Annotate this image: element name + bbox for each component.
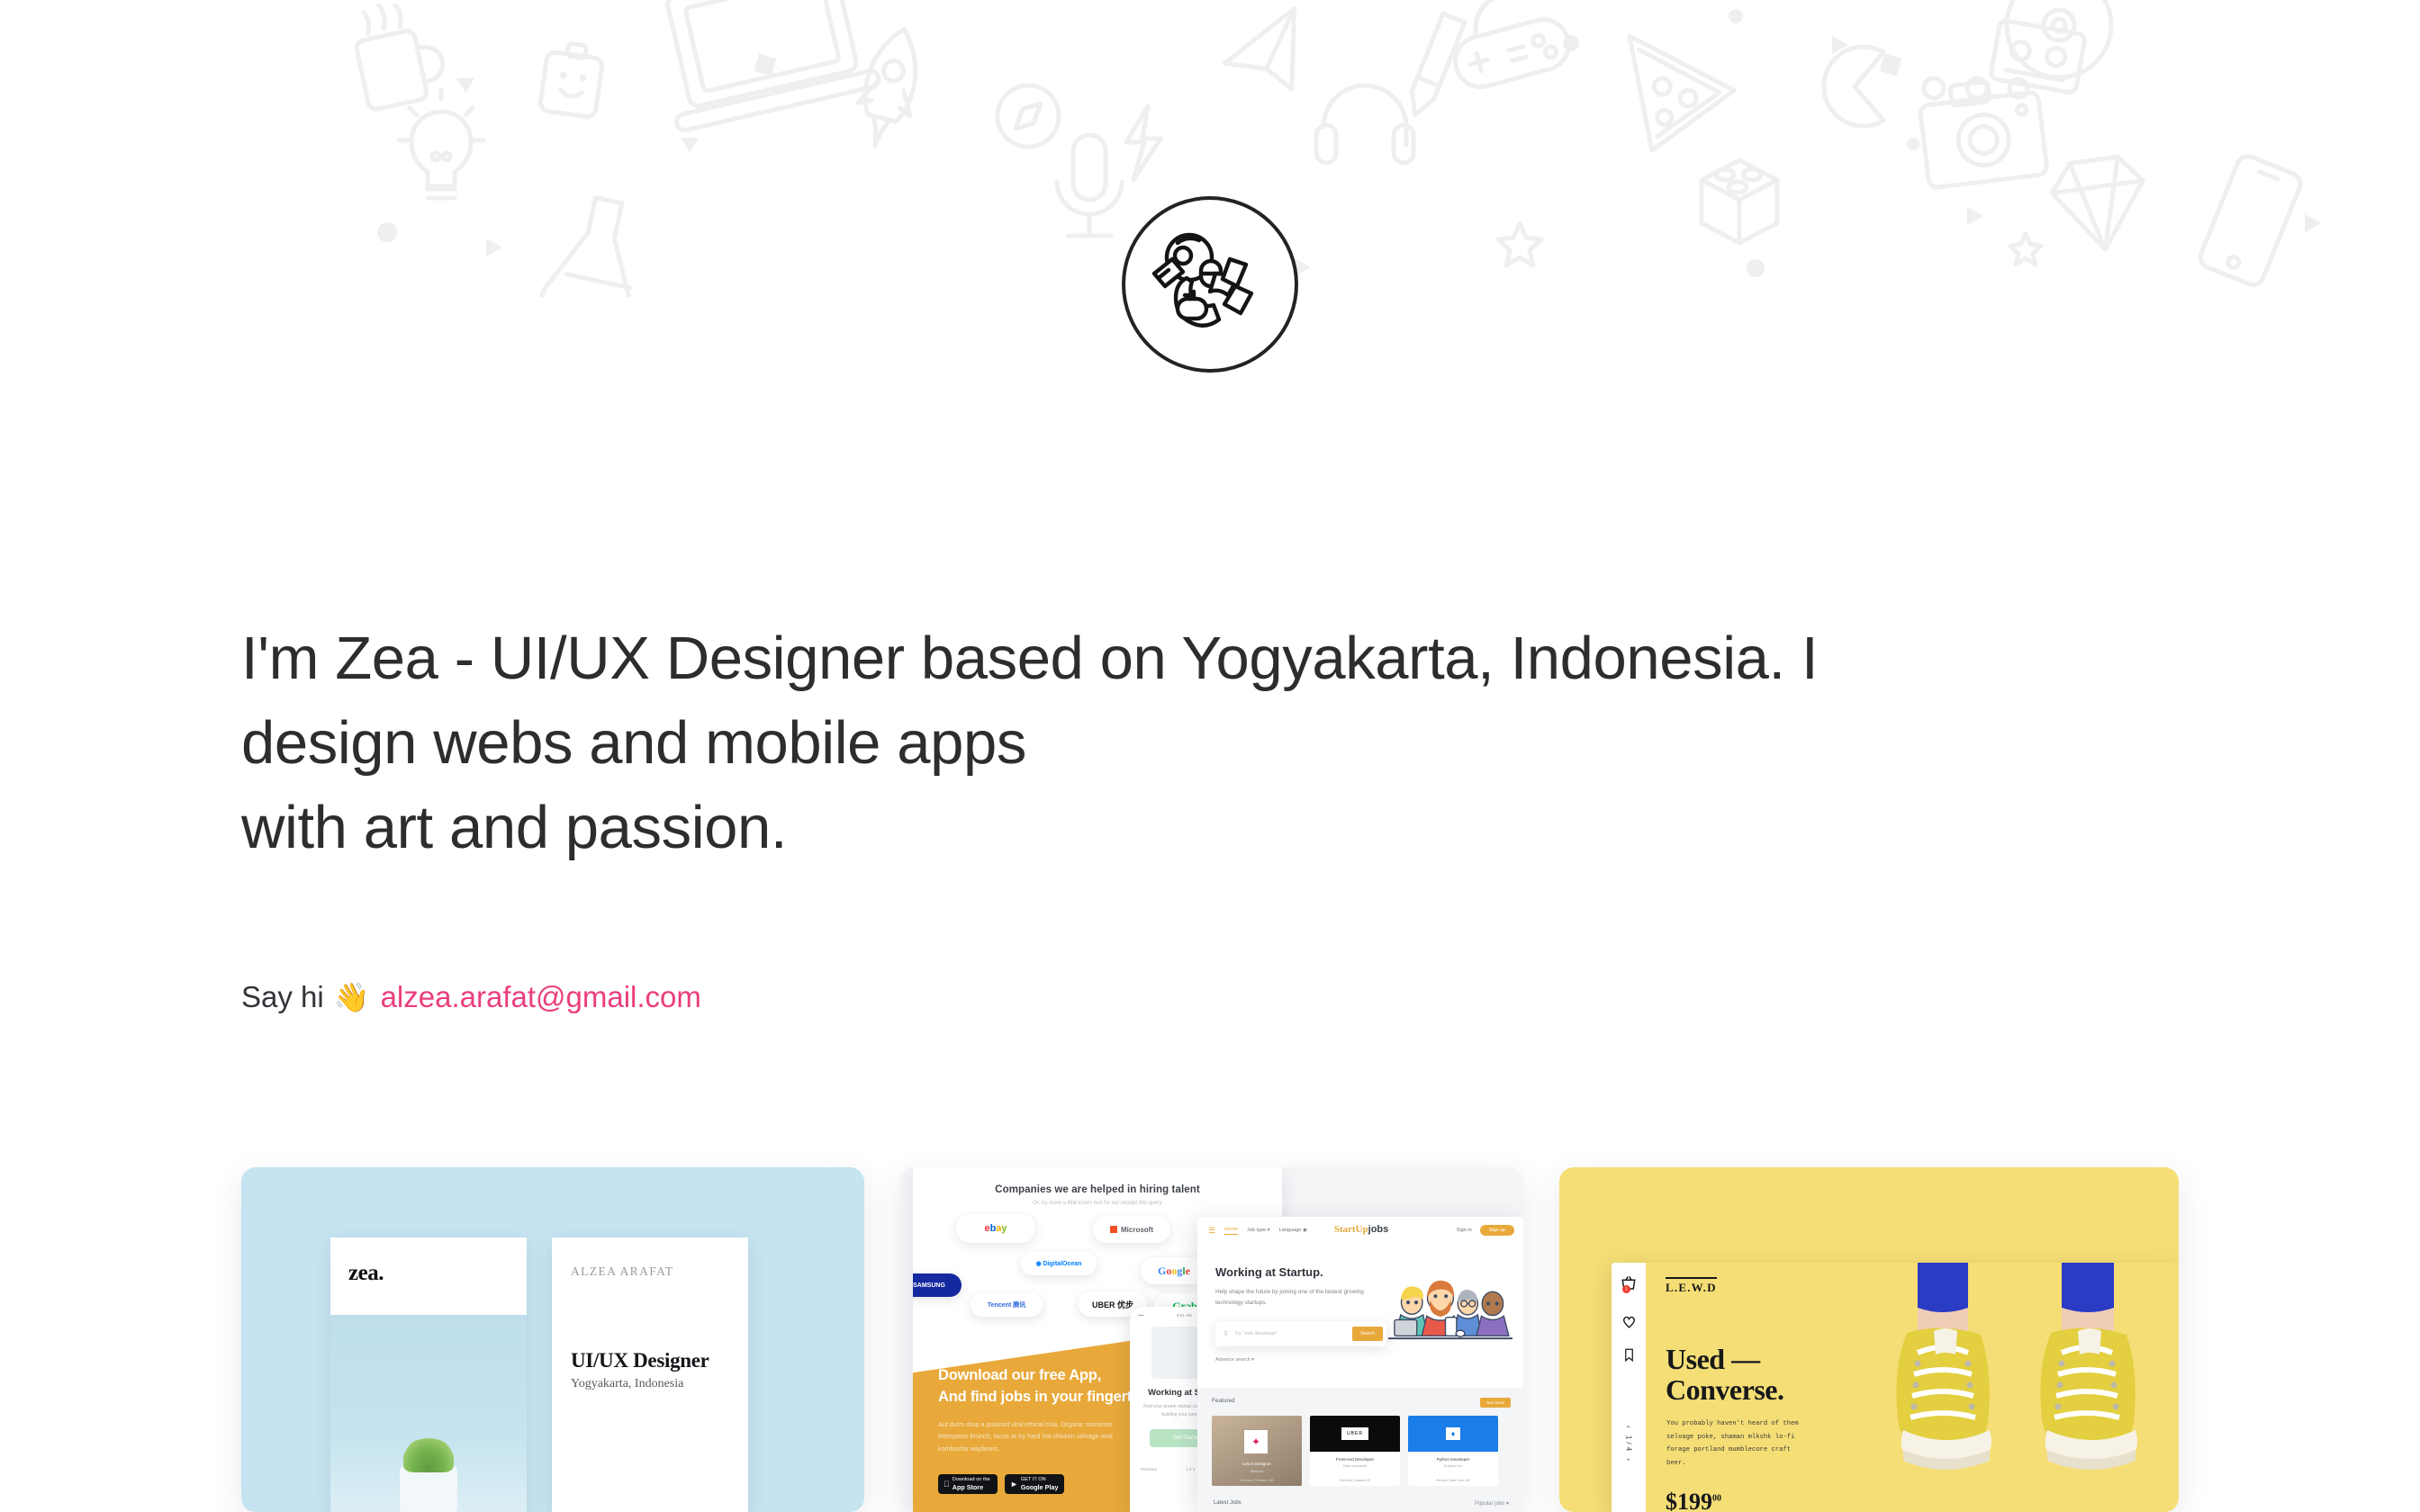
featured-label: Featured: [1212, 1398, 1235, 1408]
product-price-cents: 00: [1712, 1493, 1721, 1503]
pacman-icon: [1824, 47, 1883, 126]
business-card-back: ALZEA ARAFAT UI/UX Designer Yogyakarta, …: [552, 1237, 748, 1512]
pacman-dot-1: [1924, 78, 1944, 98]
apple-icon: : [944, 1480, 950, 1489]
pacman-dot-3: [2009, 79, 2027, 97]
job-tile-meta: Remote | New York, NY: [1408, 1479, 1498, 1482]
zea-wordmark: zea.: [330, 1237, 527, 1286]
dot-round: [1729, 9, 1743, 23]
popular-jobs-dropdown[interactable]: Popular jobs ▾: [1475, 1500, 1509, 1507]
company-logo-samsung: SAMSUNG: [913, 1273, 962, 1297]
slack-icon: ✦: [1244, 1430, 1268, 1453]
product-heading-line2: Converse.: [1666, 1373, 1783, 1406]
portfolio-card-zea-branding[interactable]: zea. ALZEA ARAFAT UI/UX Designer Yogyaka…: [241, 1167, 864, 1512]
rocket-icon: [849, 22, 931, 153]
job-tile-company: Slack Inc: [1212, 1470, 1302, 1473]
job-tile[interactable]: ✦ UI/UX Designer Slack Inc Full-time | P…: [1212, 1416, 1302, 1486]
business-card-location: Yogyakarta, Indonesia: [552, 1372, 748, 1391]
site-nav: ☰ Home Job type ▾ Language ◉ StartUpjobs…: [1197, 1217, 1523, 1244]
cd-icon: [2007, 0, 2111, 77]
search-button[interactable]: Search: [1352, 1327, 1383, 1341]
product-heading-line1: Used —: [1666, 1343, 1760, 1375]
app-store-label: App Store: [953, 1483, 990, 1491]
say-hi-label: Say hi: [241, 976, 324, 1018]
compass-icon: [998, 85, 1059, 147]
advance-search-toggle[interactable]: Advance search ▾: [1215, 1357, 1523, 1363]
triangle-dot: [1832, 36, 1848, 54]
nav-item-job-type[interactable]: Job type ▾: [1247, 1228, 1270, 1233]
business-card-logo-panel: zea.: [330, 1237, 527, 1315]
plant-pot: [400, 1465, 457, 1512]
portfolio-card-lewd-shop[interactable]: 1 ‹ 1/4 › L.E.W.D Used — Converse. You p…: [1559, 1167, 2179, 1512]
dot-round: [1563, 35, 1579, 51]
logo-circle: [1122, 196, 1298, 373]
latest-jobs-row: Latest Jobs Popular jobs ▾: [1197, 1500, 1523, 1507]
triangle-dot: [456, 78, 474, 93]
nav-item-language[interactable]: Language ◉: [1279, 1228, 1307, 1233]
hamburger-icon[interactable]: ☰: [1208, 1226, 1215, 1236]
triangle-dot: [681, 138, 699, 152]
site-logo[interactable]: [0, 196, 2420, 373]
job-tile-image: ✦ UI/UX Designer Slack Inc Full-time | P…: [1212, 1416, 1302, 1486]
dropbox-logo: ♦: [1408, 1416, 1498, 1452]
job-tile-company: Uber Indonesia: [1310, 1464, 1400, 1468]
page-title: I'm Zea - UI/UX Designer based on Yogyak…: [241, 616, 2042, 869]
see-more-button[interactable]: See More: [1480, 1398, 1511, 1408]
pizza-icon: [1618, 36, 1738, 158]
heart-icon[interactable]: [1621, 1314, 1637, 1329]
headline-line-2: design webs and mobile apps: [241, 701, 2042, 786]
coffee-mug-icon: [349, 0, 449, 111]
dot-square: [754, 54, 777, 76]
startupjobs-brand: StartUpjobs: [1334, 1224, 1389, 1235]
lewd-brand: L.E.W.D: [1666, 1277, 1717, 1295]
product-description: You probably haven't heard of them selva…: [1666, 1417, 1810, 1471]
dot-round: [1907, 138, 1919, 150]
latest-jobs-label: Latest Jobs: [1214, 1500, 1242, 1507]
featured-job-tiles: ✦ UI/UX Designer Slack Inc Full-time | P…: [1197, 1408, 1523, 1486]
waving-hand-icon: 👋: [334, 983, 370, 1012]
sign-up-button[interactable]: Sign up: [1480, 1225, 1514, 1236]
uber-logo: UBER: [1310, 1416, 1400, 1452]
app-store-button[interactable]:  Download on theApp Store: [938, 1474, 998, 1494]
lewd-product-panel: L.E.W.D Used — Converse. You probably ha…: [1646, 1263, 2179, 1512]
chevron-down-icon: ▾: [1251, 1357, 1254, 1363]
business-card-role: UI/UX Designer: [552, 1279, 748, 1372]
lego-head-icon: [539, 40, 604, 118]
job-search-bar[interactable]: ⚲ Try "web developer" Search: [1215, 1321, 1386, 1346]
product-pagination[interactable]: ‹ 1/4 ›: [1625, 1426, 1633, 1463]
job-tile-company: Dropbox Inc: [1408, 1464, 1498, 1468]
company-logo-ebay: ebay: [956, 1214, 1035, 1243]
astronaut-icon: [1147, 221, 1273, 347]
google-play-label: Google Play: [1021, 1483, 1059, 1491]
search-input[interactable]: Try "web developer": [1234, 1331, 1278, 1336]
camera-icon: [1918, 76, 2047, 188]
company-logo-digitalocean: ◉ DigitalOcean: [1021, 1252, 1097, 1275]
chevron-down-icon: ▾: [1268, 1228, 1270, 1233]
app-promo-heading-line2: And find jobs in your fingertips!: [938, 1389, 1158, 1405]
lightbulb-icon: [399, 90, 483, 198]
companies-heading: Companies we are helped in hiring talent: [913, 1167, 1282, 1195]
app-promo-body: Aut durm drop a polaroid viral ethical c…: [938, 1418, 1118, 1454]
search-icon: ⚲: [1224, 1330, 1228, 1337]
job-tile-title: Front-end Developer: [1310, 1457, 1400, 1462]
companies-subheading: Or, try more a little lorem text for our…: [913, 1195, 1282, 1206]
cart-button[interactable]: 1: [1621, 1275, 1637, 1296]
brand-part-2: jobs: [1368, 1224, 1389, 1235]
cart-badge: 1: [1622, 1285, 1630, 1293]
nav-item-home[interactable]: Home: [1224, 1227, 1238, 1235]
job-tile-meta: Full-time | Portland, OR: [1212, 1479, 1302, 1482]
lightning-icon: [1126, 106, 1160, 180]
email-link[interactable]: alzea.arafat@gmail.com: [381, 976, 701, 1018]
headphones-icon: [1316, 85, 1413, 163]
portfolio-card-startupjobs[interactable]: Companies we are helped in hiring talent…: [900, 1167, 1523, 1512]
brand-part-1: StartUp: [1334, 1224, 1368, 1235]
globe-icon: ◉: [1303, 1228, 1307, 1233]
company-logo-tencent: Tencent 腾讯: [971, 1293, 1043, 1317]
lewd-sidebar: 1 ‹ 1/4 ›: [1612, 1263, 1646, 1512]
cassette-icon: [1991, 20, 2086, 94]
company-logo-microsoft: Microsoft: [1093, 1216, 1170, 1243]
team-illustration: [1388, 1273, 1512, 1345]
portfolio-card-grid: zea. ALZEA ARAFAT UI/UX Designer Yogyaka…: [241, 1167, 2179, 1512]
plant-photo: [330, 1315, 527, 1512]
contact-line: Say hi 👋 alzea.arafat@gmail.com: [241, 976, 701, 1018]
laptop-icon: [648, 0, 880, 131]
featured-header: Featured See More: [1197, 1388, 1523, 1408]
converse-shoes-photo: [1882, 1263, 2179, 1512]
business-card-front: zea.: [330, 1237, 527, 1512]
job-tile-title: UI/UX Designer: [1212, 1462, 1302, 1466]
lewd-browser-mockup: 1 ‹ 1/4 › L.E.W.D Used — Converse. You p…: [1612, 1263, 2179, 1512]
app-promo-heading: Download our free App, And find jobs in …: [938, 1365, 1158, 1408]
startupjobs-web-mockup: ☰ Home Job type ▾ Language ◉ StartUpjobs…: [1197, 1217, 1523, 1512]
job-tile[interactable]: UBER Front-end Developer Uber Indonesia …: [1310, 1416, 1400, 1486]
headline-line-1: I'm Zea - UI/UX Designer based on Yogyak…: [241, 616, 2042, 701]
pencil-icon: [1404, 13, 1466, 119]
auth-actions: Sign in Sign up: [1457, 1225, 1514, 1236]
job-tile-title: Python Developer: [1408, 1457, 1498, 1462]
gamepad-icon: [1441, 0, 1575, 93]
paper-plane-icon: [1215, 9, 1317, 106]
headline-line-3: with art and passion.: [241, 786, 2042, 870]
web-hero-body: Help shape the future by joining one of …: [1215, 1287, 1368, 1309]
job-tile[interactable]: ♦ Python Developer Dropbox Inc Remote | …: [1408, 1416, 1498, 1486]
bookmark-icon[interactable]: [1622, 1347, 1636, 1363]
sign-in-link[interactable]: Sign in: [1457, 1228, 1472, 1233]
job-tile-meta: Full-time | Jakarta, ID: [1310, 1479, 1400, 1482]
app-promo-heading-line1: Download our free App,: [938, 1367, 1101, 1383]
pacman-dot-2: [1967, 78, 1987, 98]
dot-square: [1880, 54, 1902, 76]
play-icon: ►: [1010, 1480, 1018, 1489]
business-card-name: ALZEA ARAFAT: [552, 1237, 748, 1279]
featured-jobs-section: Featured See More ✦ UI/UX Designer Slack…: [1197, 1388, 1523, 1512]
google-play-button[interactable]: ► GET IT ONGoogle Play: [1005, 1474, 1064, 1494]
